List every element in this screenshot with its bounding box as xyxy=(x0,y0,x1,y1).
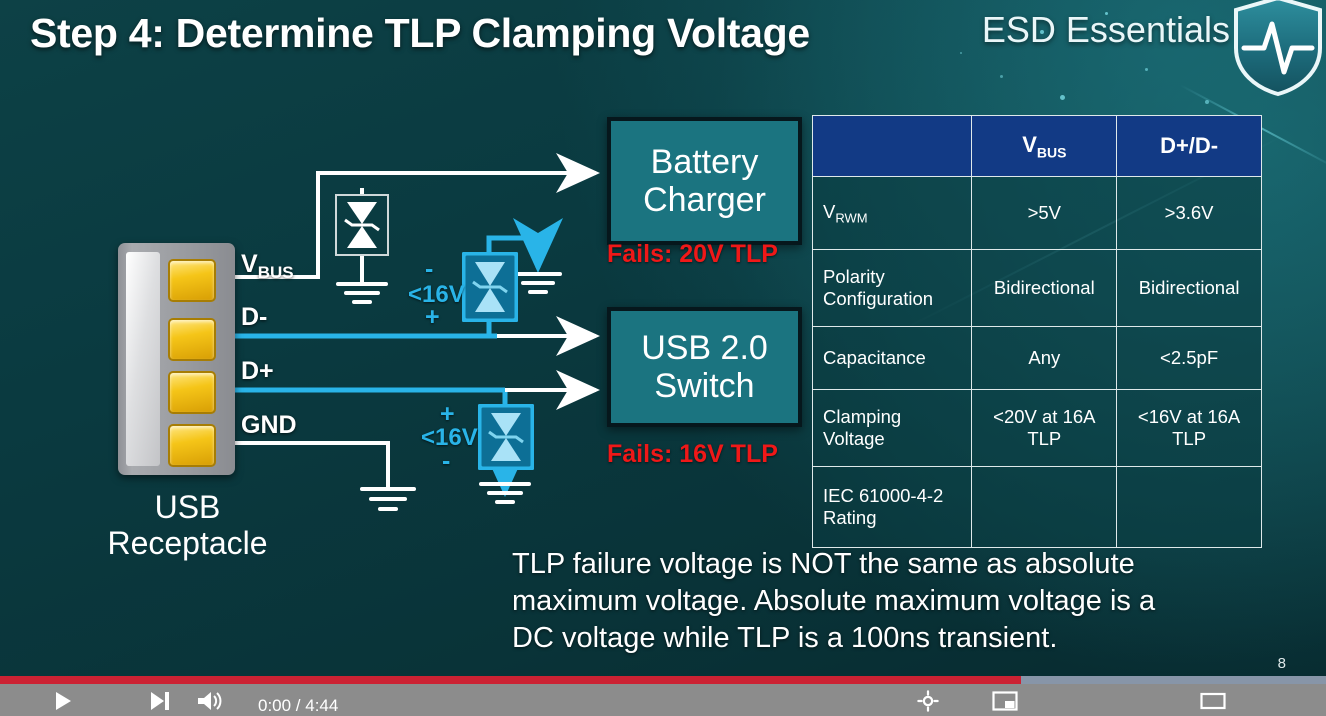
shield-pulse-icon xyxy=(1230,0,1326,98)
spec-table: VBUS D+/D- VRWM >5V >3.6V Polarity Confi… xyxy=(812,115,1262,548)
signal-label-dplus: D+ xyxy=(241,357,274,386)
player-time-display: 0:00 / 4:44 xyxy=(258,696,338,716)
table-row: Capacitance Any <2.5pF xyxy=(813,327,1262,390)
cell-polarity-data: Bidirectional xyxy=(1117,250,1262,327)
usb-caption-line2: Receptacle xyxy=(100,526,275,562)
player-controls-bar xyxy=(0,684,1326,716)
table-header-row: VBUS D+/D- xyxy=(813,116,1262,177)
table-header-blank xyxy=(813,116,972,177)
sparkle-dot xyxy=(1060,95,1065,100)
usb-pin-dminus xyxy=(168,318,216,361)
video-progress-bar[interactable] xyxy=(0,676,1326,684)
cell-vrwm-data: >3.6V xyxy=(1117,177,1262,250)
cell-polarity-vbus: Bidirectional xyxy=(972,250,1117,327)
theater-mode-icon[interactable] xyxy=(1200,690,1226,712)
tvs-diode-dminus-icon xyxy=(462,252,518,322)
signal-label-dminus: D- xyxy=(241,303,267,332)
usb-pin-dplus xyxy=(168,371,216,414)
cell-capacitance-vbus: Any xyxy=(972,327,1117,390)
miniplayer-icon[interactable] xyxy=(992,690,1018,712)
cell-label-iec: IEC 61000-4-2 Rating xyxy=(813,467,972,548)
block-usb-switch: USB 2.0 Switch xyxy=(607,307,802,427)
table-row: Polarity Configuration Bidirectional Bid… xyxy=(813,250,1262,327)
block-usb-switch-line1: USB 2.0 xyxy=(641,329,768,367)
table-header-vbus: VBUS xyxy=(972,116,1117,177)
tvs-upper-polarity-bottom: + xyxy=(425,303,440,332)
table-header-data: D+/D- xyxy=(1117,116,1262,177)
usb-pin-vbus xyxy=(168,259,216,302)
signal-label-vbus-main: V xyxy=(241,250,258,278)
cell-iec-data xyxy=(1117,467,1262,548)
signal-label-vbus: VBUS xyxy=(241,250,294,283)
cell-label-capacitance: Capacitance xyxy=(813,327,972,390)
table-row: IEC 61000-4-2 Rating xyxy=(813,467,1262,548)
page-number: 8 xyxy=(1278,655,1286,672)
block-battery-charger: Battery Charger xyxy=(607,117,802,245)
usb-receptacle-shell xyxy=(126,252,160,466)
cell-iec-vbus xyxy=(972,467,1117,548)
play-icon[interactable] xyxy=(52,690,74,712)
slide-canvas: Step 4: Determine TLP Clamping Voltage E… xyxy=(0,0,1326,716)
sparkle-dot xyxy=(1000,75,1003,78)
signal-label-vbus-sub: BUS xyxy=(258,263,294,282)
sparkle-dot xyxy=(1145,68,1148,71)
brand-label: ESD Essentials xyxy=(982,9,1230,51)
cell-label-vrwm: VRWM xyxy=(813,177,972,250)
usb-receptacle xyxy=(118,243,235,475)
tvs-diode-vbus-icon xyxy=(335,194,389,256)
usb-caption-line1: USB xyxy=(100,490,275,526)
block-usb-switch-line2: Switch xyxy=(641,367,768,405)
settings-gear-icon[interactable] xyxy=(916,690,940,712)
usb-pin-gnd xyxy=(168,424,216,467)
usb-receptacle-caption: USB Receptacle xyxy=(100,490,275,562)
cell-clamping-data: <16V at 16A TLP xyxy=(1117,390,1262,467)
page-title: Step 4: Determine TLP Clamping Voltage xyxy=(30,10,810,57)
table-row: VRWM >5V >3.6V xyxy=(813,177,1262,250)
tvs-lower-polarity-bottom: - xyxy=(442,447,450,476)
signal-label-gnd: GND xyxy=(241,411,297,440)
block-battery-charger-line1: Battery xyxy=(643,143,766,181)
cell-clamping-vbus: <20V at 16A TLP xyxy=(972,390,1117,467)
slide-caption: TLP failure voltage is NOT the same as a… xyxy=(512,546,1202,657)
fail-note-usb-switch: Fails: 16V TLP xyxy=(607,440,807,469)
next-track-icon[interactable] xyxy=(148,690,172,712)
cell-label-clamping: Clamping Voltage xyxy=(813,390,972,467)
volume-icon[interactable] xyxy=(196,690,224,712)
video-progress-played xyxy=(0,676,1021,684)
fail-note-battery-charger: Fails: 20V TLP xyxy=(607,240,807,269)
tvs-upper-polarity-top: - xyxy=(425,255,433,284)
tvs-diode-dplus-icon xyxy=(478,404,534,470)
table-row: Clamping Voltage <20V at 16A TLP <16V at… xyxy=(813,390,1262,467)
cell-label-polarity: Polarity Configuration xyxy=(813,250,972,327)
sparkle-dot xyxy=(960,52,962,54)
cell-vrwm-vbus: >5V xyxy=(972,177,1117,250)
cell-capacitance-data: <2.5pF xyxy=(1117,327,1262,390)
block-battery-charger-line2: Charger xyxy=(643,181,766,219)
